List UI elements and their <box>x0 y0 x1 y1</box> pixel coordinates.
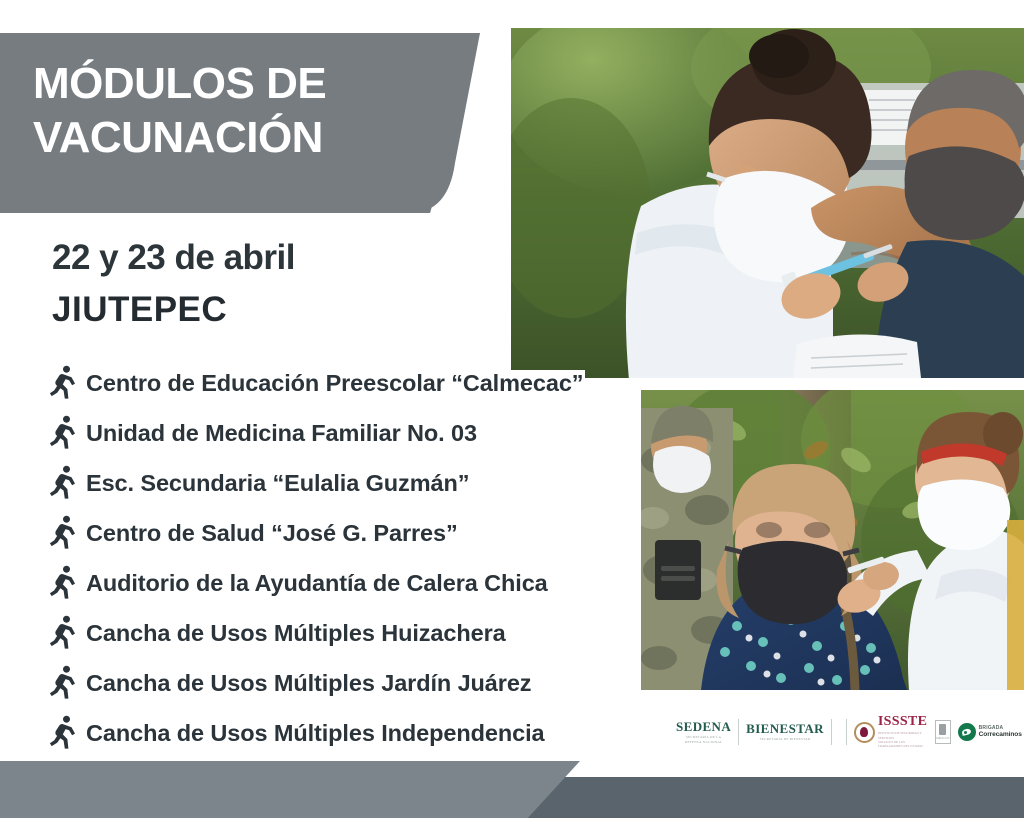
list-item[interactable]: Unidad de Medicina Familiar No. 03 <box>48 408 668 458</box>
photo-nurse-vaccinating-man <box>511 28 1024 378</box>
list-item[interactable]: Centro de Salud “José G. Parres” <box>48 508 668 558</box>
issste-logo-text: ISSSTE INSTITUTO DE SEGURIDAD Y SERVICIO… <box>878 715 928 748</box>
running-person-icon <box>48 665 78 701</box>
bienestar-logo-subtitle: SECRETARÍA DE BIENESTAR <box>760 737 811 742</box>
list-item[interactable]: Cancha de Usos Múltiples Huizachera <box>48 608 668 658</box>
issste-logo: ISSSTE INSTITUTO DE SEGURIDAD Y SERVICIO… <box>854 715 928 748</box>
list-item[interactable]: Cancha de Usos Múltiples Jardín Juárez <box>48 658 668 708</box>
list-item[interactable]: Cancha de Usos Múltiples Independencia <box>48 708 668 758</box>
mexico-glyph-icon <box>939 724 946 735</box>
brigada-correcaminos-logo: BRIGADA Correcaminos <box>958 723 1022 741</box>
venue-label: Cancha de Usos Múltiples Independencia <box>86 720 546 747</box>
sedena-logo-subtitle: SECRETARÍA DE LA DEFENSA NACIONAL <box>685 735 723 744</box>
bottom-light-band <box>0 761 580 818</box>
bienestar-logo-word: BIENESTAR <box>746 722 824 735</box>
running-person-icon <box>48 615 78 651</box>
issste-logo-subtitle: INSTITUTO DE SEGURIDAD Y SERVICIOS SOCIA… <box>878 731 928 748</box>
photo-woman-receiving-vaccine <box>641 390 1024 690</box>
running-person-icon <box>48 465 78 501</box>
institutional-logo-strip: SEDENA SECRETARÍA DE LA DEFENSA NACIONAL… <box>676 712 1016 752</box>
running-person-icon <box>48 415 78 451</box>
venue-label: Unidad de Medicina Familiar No. 03 <box>86 420 479 447</box>
running-person-icon <box>48 565 78 601</box>
logo-divider <box>738 719 739 745</box>
logo-divider <box>831 719 832 745</box>
running-person-icon <box>48 365 78 401</box>
running-person-icon <box>48 515 78 551</box>
sep-logo-word: MÉXICO <box>936 737 949 740</box>
list-item[interactable]: Centro de Educación Preescolar “Calmecac… <box>48 358 668 408</box>
logo-divider <box>846 719 847 745</box>
sep-logo: MÉXICO <box>935 720 950 744</box>
event-city: JIUTEPEC <box>52 290 227 330</box>
sedena-logo-word: SEDENA <box>676 720 731 733</box>
vaccination-modules-poster: MÓDULOS DE VACUNACIÓN 22 y 23 de abril J… <box>0 0 1024 818</box>
venue-label: Cancha de Usos Múltiples Jardín Juárez <box>86 670 533 697</box>
venue-label: Cancha de Usos Múltiples Huizachera <box>86 620 508 647</box>
issste-logo-word: ISSSTE <box>878 715 928 729</box>
venue-label: Esc. Secundaria “Eulalia Guzmán” <box>86 470 471 497</box>
list-item[interactable]: Esc. Secundaria “Eulalia Guzmán” <box>48 458 668 508</box>
brigada-logo-text: BRIGADA Correcaminos <box>979 726 1022 739</box>
bienestar-logo: BIENESTAR SECRETARÍA DE BIENESTAR <box>746 722 824 742</box>
venue-label: Centro de Educación Preescolar “Calmecac… <box>86 370 585 397</box>
venue-label: Centro de Salud “José G. Parres” <box>86 520 460 547</box>
venue-label: Auditorio de la Ayudantía de Calera Chic… <box>86 570 550 597</box>
running-person-icon <box>48 715 78 751</box>
page-title: MÓDULOS DE VACUNACIÓN <box>33 57 453 164</box>
brigada-logo-word-2: Correcaminos <box>979 731 1022 738</box>
brigada-roadrunner-icon <box>958 723 976 741</box>
event-date: 22 y 23 de abril <box>52 238 295 278</box>
issste-emblem-icon <box>854 719 875 745</box>
list-item[interactable]: Auditorio de la Ayudantía de Calera Chic… <box>48 558 668 608</box>
sedena-logo: SEDENA SECRETARÍA DE LA DEFENSA NACIONAL <box>676 720 731 744</box>
venue-list: Centro de Educación Preescolar “Calmecac… <box>48 358 668 758</box>
